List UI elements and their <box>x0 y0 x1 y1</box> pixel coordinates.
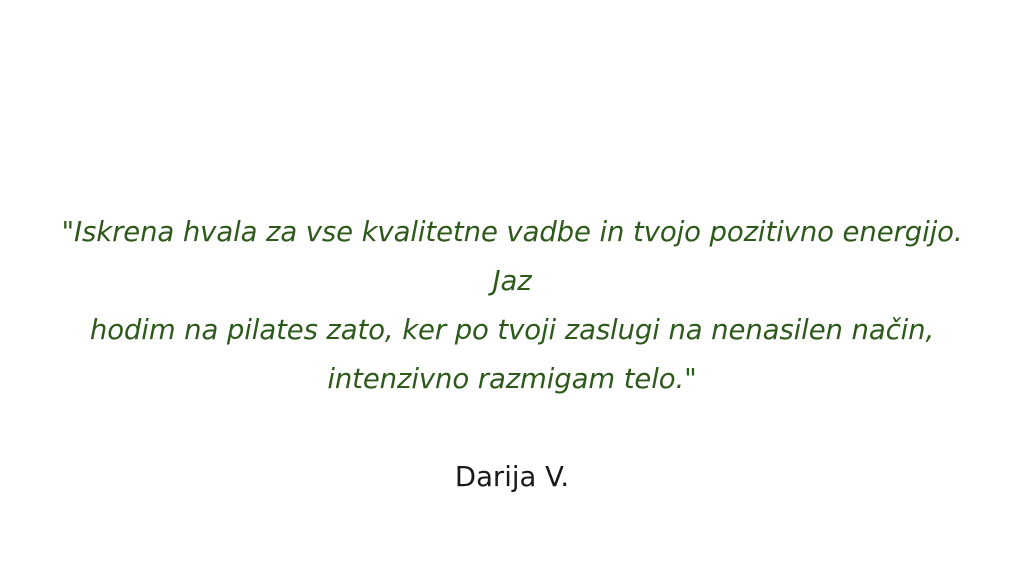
quote-line-1: "Iskrena hvala za vse kvalitetne vadbe i… <box>52 208 972 306</box>
testimonial-canvas: "Iskrena hvala za vse kvalitetne vadbe i… <box>0 0 1024 577</box>
quote-text: "Iskrena hvala za vse kvalitetne vadbe i… <box>52 208 972 404</box>
attribution-spacer <box>52 404 972 453</box>
attribution-name: Darija V. <box>52 453 972 502</box>
testimonial-block: "Iskrena hvala za vse kvalitetne vadbe i… <box>52 208 972 502</box>
quote-line-2: hodim na pilates zato, ker po tvoji zasl… <box>52 306 972 355</box>
quote-line-3: intenzivno razmigam telo." <box>52 355 972 404</box>
